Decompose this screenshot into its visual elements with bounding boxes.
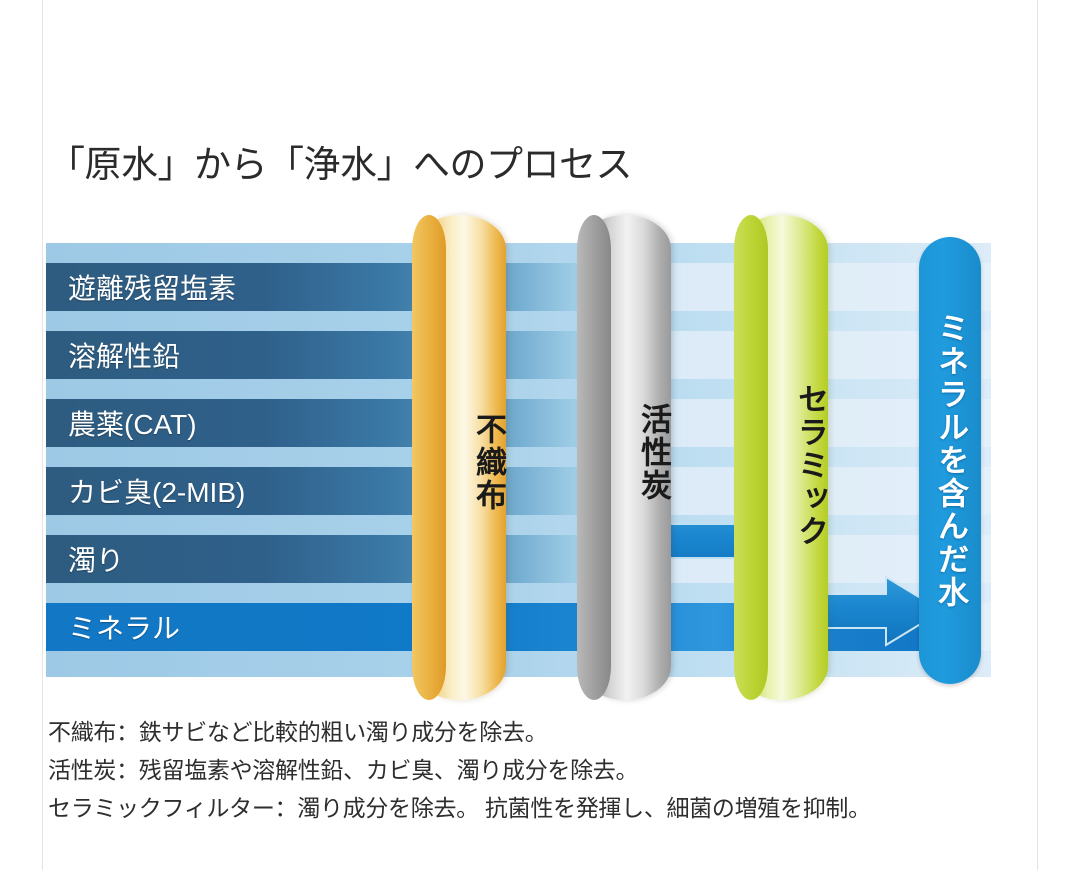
gap-band <box>46 311 991 331</box>
stripe-label: 溶解性鉛 <box>68 335 180 375</box>
gap-band <box>46 243 991 263</box>
gap-band <box>46 515 991 535</box>
gap-band <box>46 447 991 467</box>
stripe-label: 農薬(CAT) <box>68 403 197 443</box>
stripe-label: 遊離残留塩素 <box>68 267 236 307</box>
diagram-page: 「原水」から「浄水」へのプロセス 遊離残留塩素 溶解性鉛 農薬(CAT) カビ臭… <box>0 0 1080 870</box>
stripe-label: ミネラル <box>68 607 180 647</box>
filter-label: セラミック <box>736 365 828 565</box>
caption-block: 不織布：鉄サビなど比較的粗い濁り成分を除去。 活性炭：残留塩素や溶解性鉛、カビ臭… <box>48 713 1008 827</box>
gap-band <box>46 379 991 399</box>
right-margin-rule <box>1037 0 1038 870</box>
output-badge-label: ミネラルを含んだ水 <box>933 261 967 661</box>
caption-line-nonwoven: 不織布：鉄サビなど比較的粗い濁り成分を除去。 <box>48 713 1008 751</box>
filter-label: 活性炭 <box>579 393 671 511</box>
filter-ceramic: セラミック <box>736 215 828 700</box>
left-margin-rule <box>42 0 43 870</box>
process-diagram: 遊離残留塩素 溶解性鉛 農薬(CAT) カビ臭(2-MIB) 濁り ミネラル <box>46 215 1036 705</box>
page-title: 「原水」から「浄水」へのプロセス <box>48 143 632 187</box>
stripe-label: カビ臭(2-MIB) <box>68 471 245 511</box>
filter-nonwoven-fabric: 不織布 <box>414 215 506 700</box>
output-badge: ミネラルを含んだ水 <box>919 237 981 684</box>
filter-label: 不織布 <box>414 387 506 537</box>
caption-line-ceramic: セラミックフィルター：濁り成分を除去。 抗菌性を発揮し、細菌の増殖を抑制。 <box>48 789 1008 827</box>
filter-activated-carbon: 活性炭 <box>579 215 671 700</box>
gap-band <box>46 651 991 677</box>
stripe-label: 濁り <box>68 539 124 579</box>
caption-line-carbon: 活性炭：残留塩素や溶解性鉛、カビ臭、濁り成分を除去。 <box>48 751 1008 789</box>
